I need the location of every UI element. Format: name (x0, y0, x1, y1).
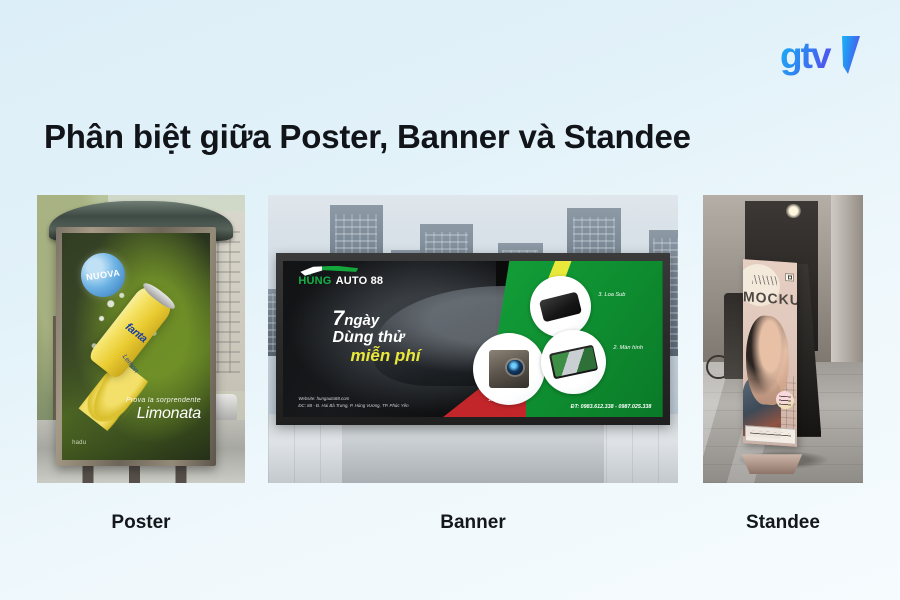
caption-banner: Banner (268, 512, 678, 534)
scribble-text (752, 275, 777, 286)
nuova-badge-label: NUOVA (85, 268, 120, 283)
banner-artwork: HÙNG AUTO 88 7ngày Dùng thử miễn phí Web… (283, 261, 663, 418)
banner-address: ĐC: 88 - Đ. Hai Bà Trưng, P. Hùng Vương,… (298, 403, 408, 410)
poster-scene: NUOVA fanta Lemon Prova la sorprendente … (37, 195, 245, 483)
product-bubble-loa-sub (530, 276, 591, 337)
banner-contact-block: Website: hungauto88.com ĐC: 88 - Đ. Hai … (298, 396, 408, 410)
logo-word-auto88: AUTO 88 (336, 275, 384, 287)
caption-standee: Standee (703, 512, 863, 534)
examples-row: NUOVA fanta Lemon Prova la sorprendente … (0, 195, 900, 485)
banner-website: Website: hungauto88.com (298, 396, 408, 403)
bottom-info-strip (745, 425, 796, 445)
poster-brand-footer: hadu (72, 440, 86, 446)
product-label-3: 3. Loa Sub (598, 292, 625, 298)
pillar (831, 195, 863, 374)
standee-headline: MOCKUP (743, 289, 797, 309)
billboard-base (342, 417, 604, 483)
banner-headline: 7ngày Dùng thử miễn phí (333, 308, 421, 365)
standee-panel: MOCKUP (743, 259, 797, 447)
poster-frame: NUOVA fanta Lemon Prova la sorprendente … (56, 227, 216, 466)
qr-code (785, 273, 793, 282)
banner-image: HÙNG AUTO 88 7ngày Dùng thử miễn phí Web… (268, 195, 678, 483)
headline-line-1: ngày (344, 312, 379, 329)
standee-image: MOCKUP (703, 195, 863, 483)
bus-shelter-legs (66, 463, 203, 483)
standee-scene: MOCKUP (703, 195, 863, 483)
headline-line-3: miễn phí (333, 347, 421, 364)
logo-word-hung: HÙNG (298, 275, 331, 287)
poster-tagline: Prova la sorprendente Limonata (126, 397, 201, 423)
standee-foot (741, 454, 802, 474)
gtv-logo: gtv (780, 32, 870, 80)
screen-icon (549, 345, 599, 380)
product-label-1: 1. Camera (488, 397, 514, 403)
page-title: Phân biệt giữa Poster, Banner và Standee (44, 118, 691, 156)
headline-line-2: Dùng thử (333, 330, 421, 346)
product-label-2: 2. Màn hình (613, 345, 643, 351)
poster-image: NUOVA fanta Lemon Prova la sorprendente … (37, 195, 245, 483)
tagline-small: Prova la sorprendente (126, 397, 201, 404)
product-bubble-man-hinh (541, 330, 606, 395)
svg-text:gtv: gtv (780, 35, 832, 76)
ceiling-light (786, 204, 800, 218)
hung-auto-logo: HÙNG AUTO 88 (298, 275, 383, 287)
billboard-frame: HÙNG AUTO 88 7ngày Dùng thử miễn phí Web… (276, 253, 670, 426)
tagline-big: Limonata (126, 405, 201, 423)
poster-artwork: NUOVA fanta Lemon Prova la sorprendente … (62, 233, 210, 460)
product-bubble-camera (473, 333, 545, 405)
subwoofer-icon (539, 291, 582, 322)
billboard-scene: HÙNG AUTO 88 7ngày Dùng thử miễn phí Web… (268, 195, 678, 483)
dashcam-icon (489, 350, 529, 387)
banner-phone: ĐT: 0983.612.338 - 0987.025.338 (571, 404, 652, 410)
headline-number: 7 (333, 307, 345, 330)
headline-row-1: 7ngày (333, 308, 421, 329)
caption-poster: Poster (37, 512, 245, 534)
